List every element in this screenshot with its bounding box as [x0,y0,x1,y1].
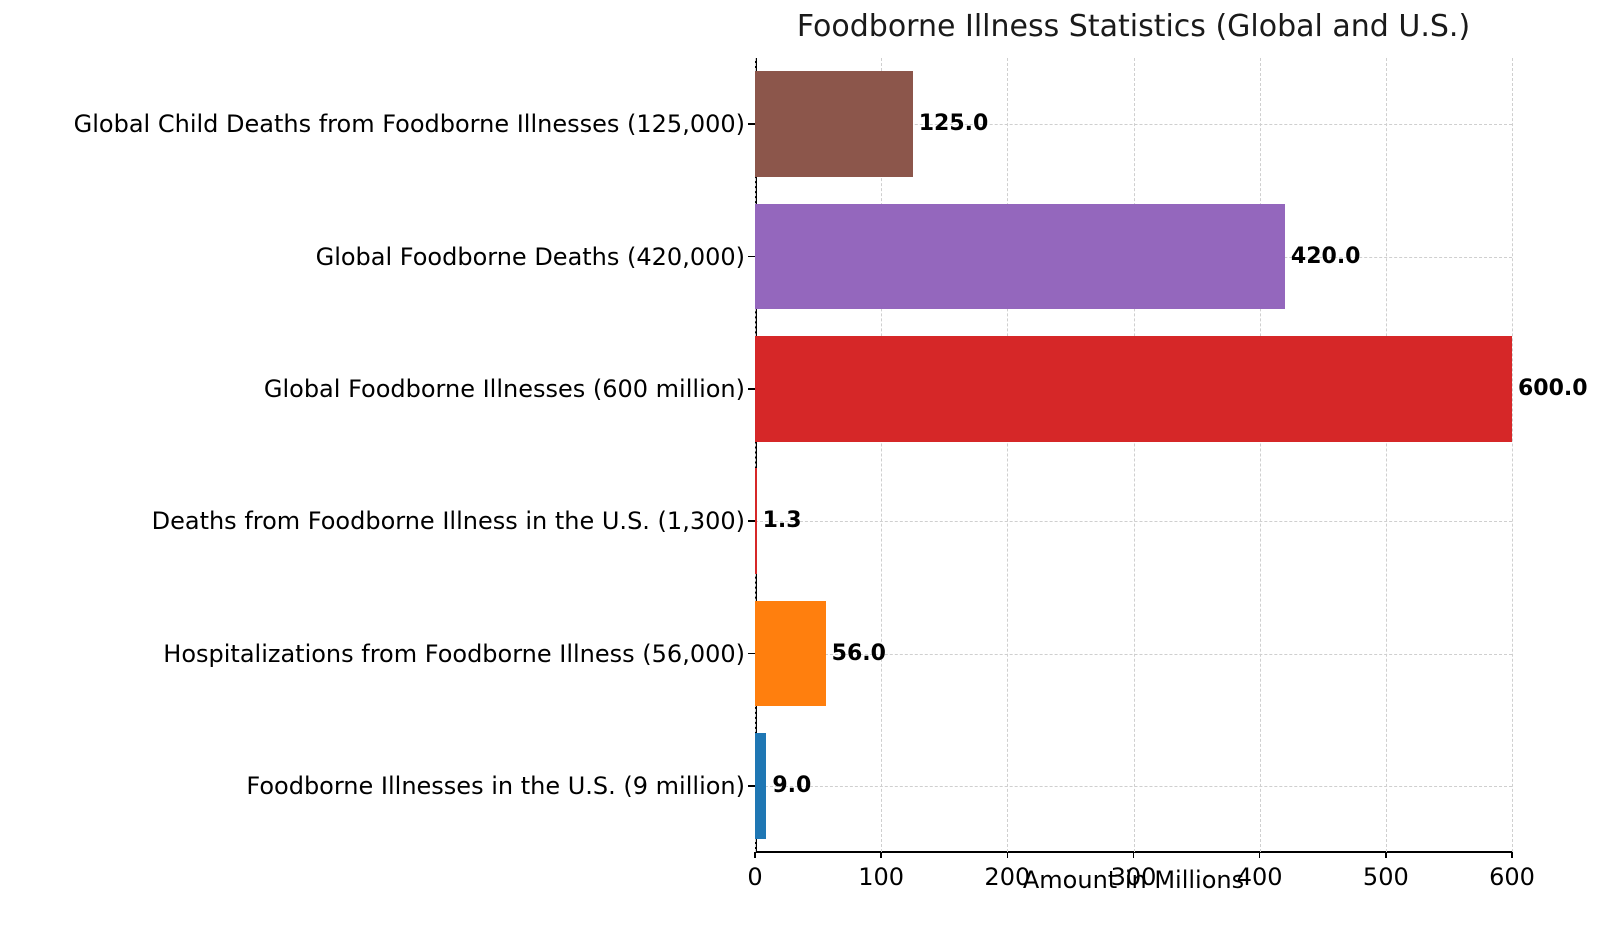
bar-value-label: 56.0 [832,641,886,667]
y-tick-mark [748,520,755,522]
bar[interactable] [755,204,1285,310]
y-tick-label: Deaths from Foodborne Illness in the U.S… [152,506,745,536]
y-tick-mark [748,256,755,258]
bar[interactable] [755,468,757,574]
bar[interactable] [755,336,1512,442]
x-tick-mark [1385,852,1387,858]
y-tick-mark [748,388,755,390]
bar[interactable] [755,601,826,707]
x-gridline [1134,58,1135,852]
plot-area: 0100200300400500600125.0420.0600.01.356.… [755,58,1512,852]
y-tick-label: Global Foodborne Deaths (420,000) [316,242,745,272]
bar-value-label: 600.0 [1518,376,1588,402]
bar[interactable] [755,733,766,839]
bar-value-label: 1.3 [763,508,802,534]
y-gridline [755,786,1512,787]
x-tick-mark [1133,852,1135,858]
bar-value-label: 9.0 [772,773,811,799]
chart-figure: Foodborne Illness Statistics (Global and… [0,0,1600,941]
x-gridline [1260,58,1261,852]
x-tick-mark [880,852,882,858]
x-axis-label: Amount in Millions [755,864,1512,896]
x-gridline [1386,58,1387,852]
x-gridline [881,58,882,852]
x-gridline [1007,58,1008,852]
y-tick-mark [748,123,755,125]
y-tick-label: Global Child Deaths from Foodborne Illne… [74,109,745,139]
y-tick-mark [748,653,755,655]
x-tick-mark [1511,852,1513,858]
y-gridline [755,521,1512,522]
y-tick-mark [748,785,755,787]
y-tick-label: Global Foodborne Illnesses (600 million) [264,374,745,404]
x-tick-mark [1259,852,1261,858]
bar[interactable] [755,71,913,177]
x-tick-mark [754,852,756,858]
y-tick-label: Hospitalizations from Foodborne Illness … [163,639,745,669]
bar-value-label: 420.0 [1291,244,1361,270]
bar-value-label: 125.0 [919,111,989,137]
x-tick-mark [1007,852,1009,858]
y-tick-label: Foodborne Illnesses in the U.S. (9 milli… [246,771,745,801]
x-gridline [1512,58,1513,852]
chart-title: Foodborne Illness Statistics (Global and… [755,8,1512,46]
